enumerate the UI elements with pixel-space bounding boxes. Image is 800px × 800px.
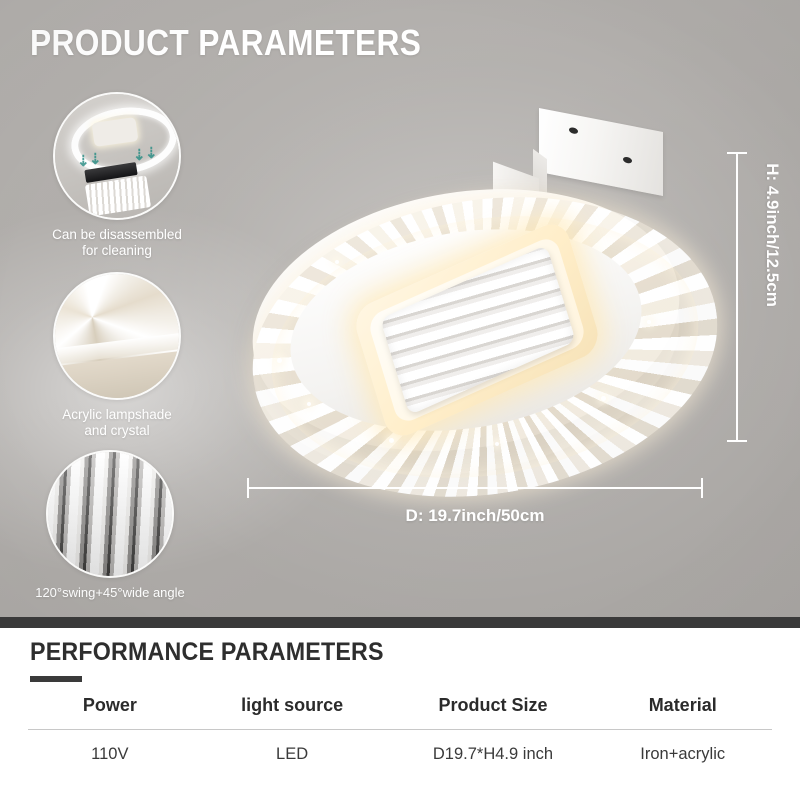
louver-blades-icon: [46, 450, 174, 578]
product-image: [243, 118, 693, 488]
exploded-fixture-icon: ⇣ ⇣ ⇣ ⇣: [53, 92, 181, 220]
specs-table: Power light source Product Size Material…: [28, 686, 772, 764]
column-header-power: Power: [28, 686, 192, 730]
feature-callout-crystal: Acrylic lampshade and crystal: [42, 272, 192, 439]
fixture-disc: [243, 170, 693, 470]
section-divider: [0, 617, 800, 628]
height-dimension-label: H: 4.9inch/12.5cm: [762, 163, 782, 307]
cell-product-size: D19.7*H4.9 inch: [393, 730, 594, 765]
table-header-row: Power light source Product Size Material: [28, 686, 772, 730]
feature-caption-line2: for cleaning: [82, 243, 152, 258]
hero-photo-section: PRODUCT PARAMETERS ⇣ ⇣ ⇣ ⇣ Can be disass…: [0, 0, 800, 617]
feature-caption-line2: and crystal: [84, 423, 149, 438]
page-title: PRODUCT PARAMETERS: [30, 22, 421, 64]
feature-callout-swing: 120°swing+45°wide angle: [35, 450, 185, 601]
cell-material: Iron+acrylic: [593, 730, 772, 765]
cell-power: 110V: [28, 730, 192, 765]
diameter-dimension-label: D: 19.7inch/50cm: [247, 506, 703, 526]
feature-caption-line1: Can be disassembled: [52, 227, 182, 242]
performance-parameters-section: PERFORMANCE PARAMETERS Power light sourc…: [0, 628, 800, 800]
feature-callout-disassemble: ⇣ ⇣ ⇣ ⇣ Can be disassembled for cleaning: [42, 92, 192, 259]
feature-caption-line1: 120°swing+45°wide angle: [35, 585, 185, 600]
height-dimension-line: [736, 152, 738, 442]
diameter-dimension-line: [247, 487, 703, 489]
column-header-light-source: light source: [192, 686, 393, 730]
crystal-facet-icon: [53, 272, 181, 400]
column-header-product-size: Product Size: [393, 686, 594, 730]
specs-title: PERFORMANCE PARAMETERS: [30, 638, 384, 667]
accent-bar: [30, 676, 82, 682]
column-header-material: Material: [593, 686, 772, 730]
product-parameters-page: PRODUCT PARAMETERS ⇣ ⇣ ⇣ ⇣ Can be disass…: [0, 0, 800, 800]
feature-caption: Can be disassembled for cleaning: [42, 227, 192, 259]
feature-caption-line1: Acrylic lampshade: [62, 407, 172, 422]
feature-caption: Acrylic lampshade and crystal: [42, 407, 192, 439]
feature-caption: 120°swing+45°wide angle: [35, 585, 185, 601]
cell-light-source: LED: [192, 730, 393, 765]
table-row: 110V LED D19.7*H4.9 inch Iron+acrylic: [28, 730, 772, 765]
